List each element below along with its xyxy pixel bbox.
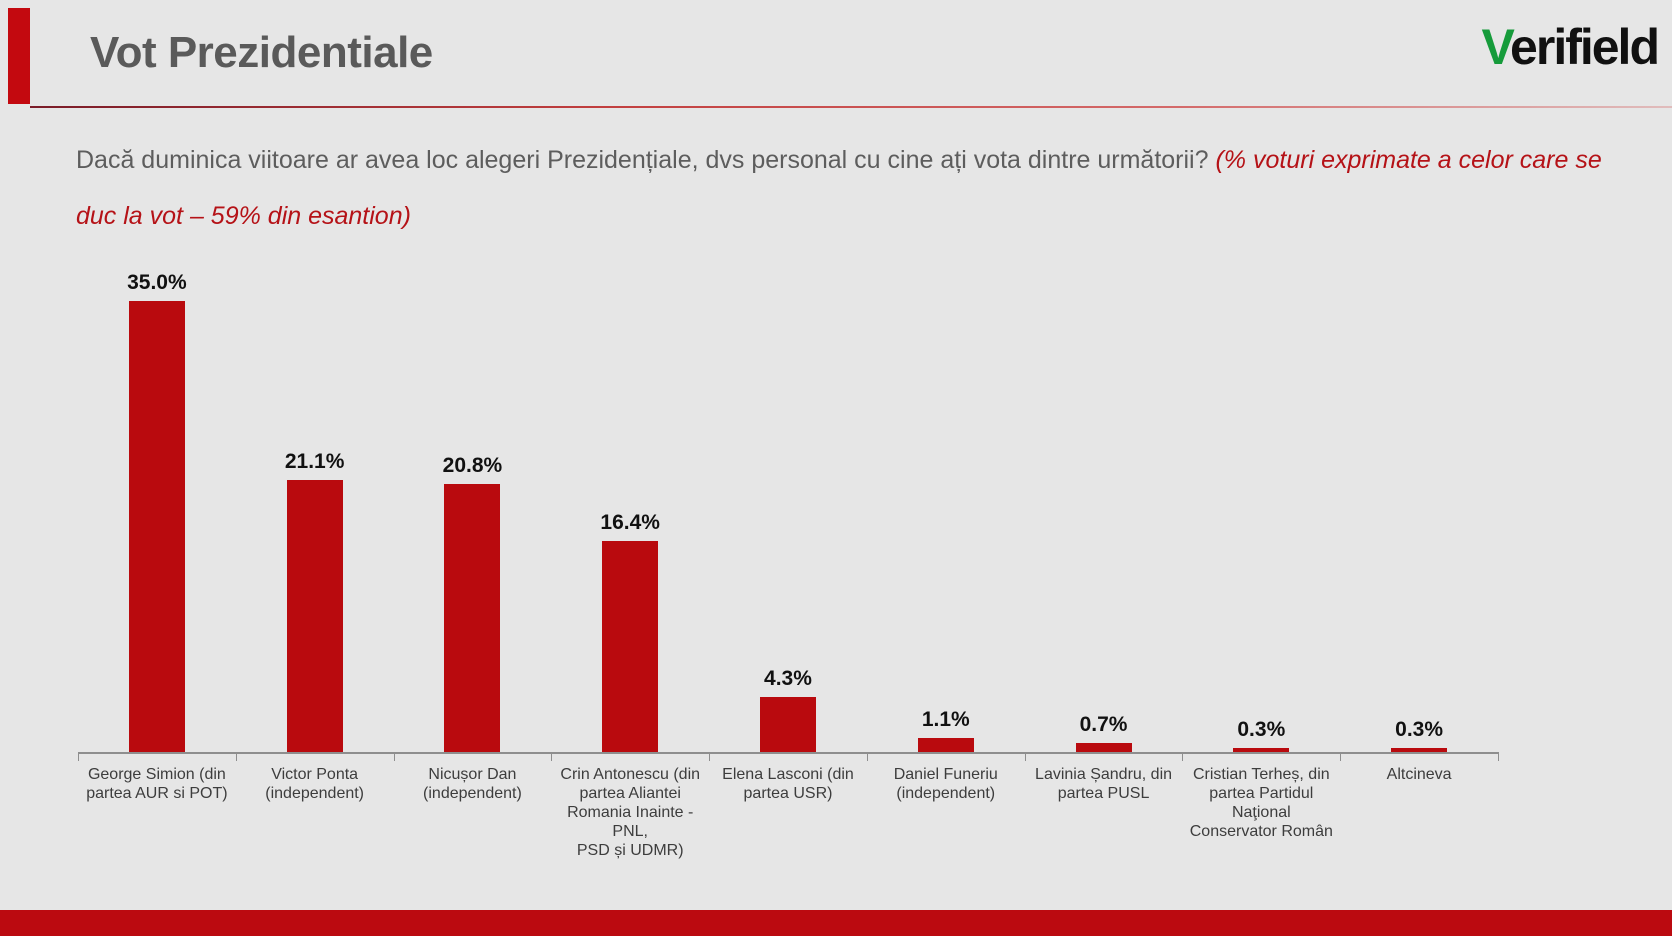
bar[interactable] <box>1076 743 1132 752</box>
bar-group[interactable]: 0.7% <box>1025 262 1183 752</box>
x-axis-category-label: Altcineva <box>1340 765 1498 784</box>
bar-value-label: 0.7% <box>1080 713 1128 737</box>
slide-root: Vot Prezidentiale Verifield Dacă duminic… <box>0 0 1672 936</box>
x-axis-tick <box>867 752 868 761</box>
bar-group[interactable]: 0.3% <box>1182 262 1340 752</box>
x-axis-category-label: Elena Lasconi (dinpartea USR) <box>709 765 867 803</box>
chart-plot-area: 35.0%21.1%20.8%16.4%4.3%1.1%0.7%0.3%0.3% <box>78 262 1498 752</box>
bar-value-label: 0.3% <box>1237 718 1285 742</box>
logo-v-checkmark: V <box>1481 19 1510 75</box>
bar[interactable] <box>129 301 185 752</box>
logo-wordmark: erifield <box>1510 19 1658 75</box>
x-axis-category-label: Lavinia Șandru, dinpartea PUSL <box>1025 765 1183 803</box>
slide-header: Vot Prezidentiale Verifield <box>0 0 1672 112</box>
x-axis-category-label: Crin Antonescu (dinpartea AlianteiRomani… <box>551 765 709 860</box>
bar-value-label: 35.0% <box>127 271 187 295</box>
header-accent-bar <box>8 8 30 104</box>
question-text: Dacă duminica viitoare ar avea loc alege… <box>76 132 1636 244</box>
x-axis-category-label: George Simion (dinpartea AUR si POT) <box>78 765 236 803</box>
x-axis-category-label: Cristian Terheș, dinpartea Partidul Naţi… <box>1182 765 1340 841</box>
bar-value-label: 4.3% <box>764 667 812 691</box>
bar-value-label: 1.1% <box>922 708 970 732</box>
x-axis-tick <box>78 752 79 761</box>
x-axis-tick <box>551 752 552 761</box>
x-axis-tick <box>394 752 395 761</box>
x-axis-tick <box>1498 752 1499 761</box>
x-axis-category-label: Nicușor Dan(independent) <box>394 765 552 803</box>
question-main: Dacă duminica viitoare ar avea loc alege… <box>76 146 1209 174</box>
bar[interactable] <box>602 541 658 752</box>
bar-group[interactable]: 20.8% <box>394 262 552 752</box>
bar-value-label: 21.1% <box>285 450 345 474</box>
x-axis-tick <box>1340 752 1341 761</box>
bar-value-label: 20.8% <box>443 454 503 478</box>
footer-band <box>0 910 1672 936</box>
bar-group[interactable]: 1.1% <box>867 262 1025 752</box>
bar[interactable] <box>760 697 816 752</box>
x-axis-tick <box>1182 752 1183 761</box>
bar[interactable] <box>444 484 500 752</box>
page-title: Vot Prezidentiale <box>90 28 433 78</box>
bar-group[interactable]: 35.0% <box>78 262 236 752</box>
x-axis-line <box>78 752 1498 754</box>
x-axis-tick <box>709 752 710 761</box>
bar[interactable] <box>287 480 343 752</box>
bar-chart: 35.0%21.1%20.8%16.4%4.3%1.1%0.7%0.3%0.3%… <box>78 262 1498 798</box>
x-axis-category-label: Daniel Funeriu(independent) <box>867 765 1025 803</box>
bar-value-label: 16.4% <box>600 511 660 535</box>
bar-value-label: 0.3% <box>1395 718 1443 742</box>
verifield-logo: Verifield <box>1481 22 1658 72</box>
bar-group[interactable]: 4.3% <box>709 262 867 752</box>
bar-group[interactable]: 16.4% <box>551 262 709 752</box>
bar[interactable] <box>918 738 974 752</box>
header-divider <box>30 106 1672 108</box>
x-axis-category-label: Victor Ponta(independent) <box>236 765 394 803</box>
bar-group[interactable]: 21.1% <box>236 262 394 752</box>
x-axis-tick <box>236 752 237 761</box>
bar-group[interactable]: 0.3% <box>1340 262 1498 752</box>
x-axis-tick <box>1025 752 1026 761</box>
